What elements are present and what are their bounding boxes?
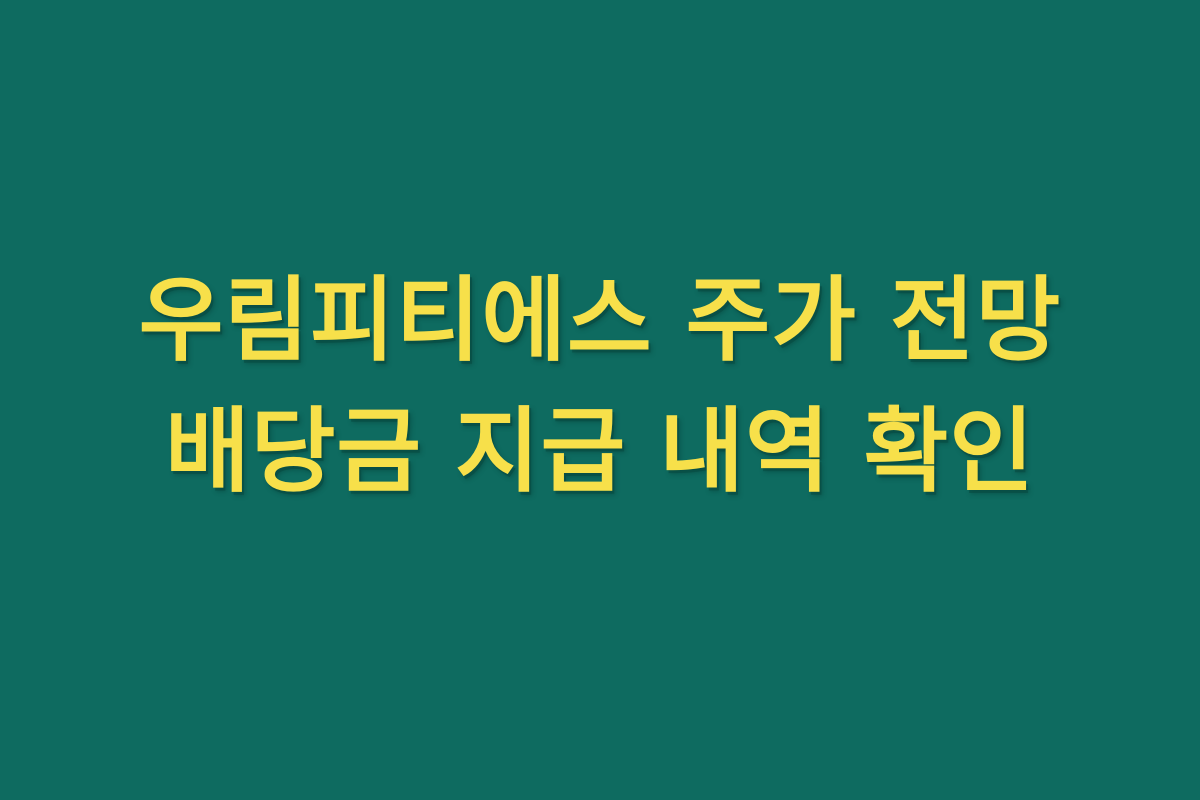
headline-line-1: 우림피티에스 주가 전망: [139, 256, 1061, 387]
headline-line-2: 배당금 지급 내역 확인: [165, 387, 1035, 518]
headline-block: 우림피티에스 주가 전망 배당금 지급 내역 확인: [0, 256, 1200, 517]
thumbnail-canvas: 우림피티에스 주가 전망 배당금 지급 내역 확인: [0, 0, 1200, 800]
